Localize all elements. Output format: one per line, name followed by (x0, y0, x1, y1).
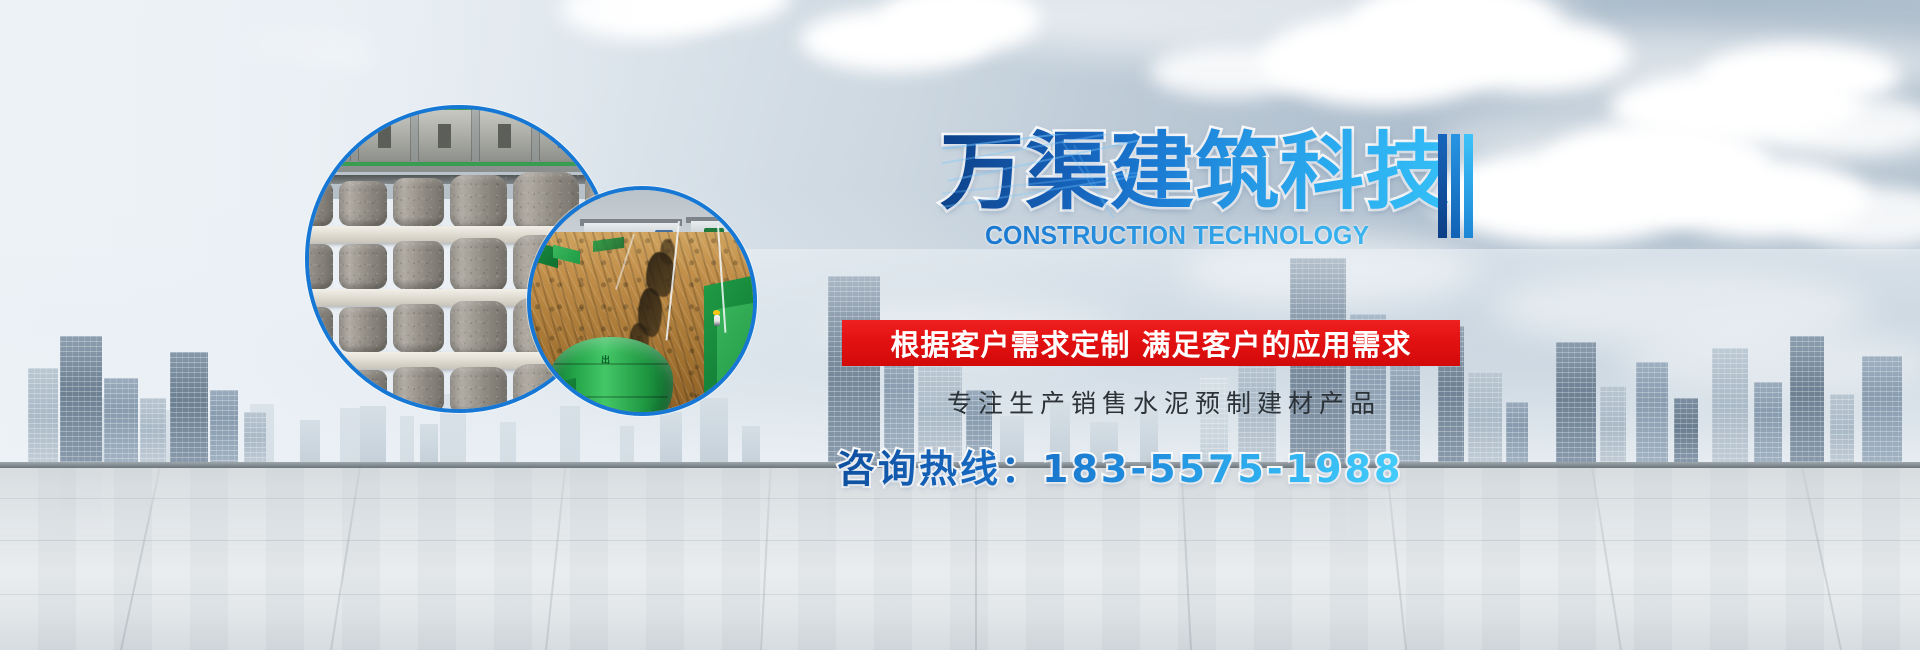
red-slogan-text: 根据客户需求定制 满足客户的应用需求 (890, 322, 1411, 364)
tank-marking-label: 出 (601, 353, 610, 366)
company-title: 万渠建筑科技 (940, 128, 1450, 216)
english-subtitle: CONSTRUCTION TECHNOLOGY (985, 220, 1523, 251)
red-slogan-band: 根据客户需求定制 满足客户的应用需求 (842, 320, 1460, 366)
hotline-text: 咨询热线：183-5575-1988 (837, 438, 1403, 493)
promotional-banner: 出 万渠建筑科技 万渠建筑科技 CONSTRUCTION TECHNOLOGY (0, 0, 1920, 650)
banner-text-block: 万渠建筑科技 万渠建筑科技 CONSTRUCTION TECHNOLOGY 根据… (940, 128, 1500, 251)
company-title-row: 万渠建筑科技 万渠建筑科技 (940, 128, 1500, 220)
product-tagline: 专注生产销售水泥预制建材产品 (874, 384, 1454, 420)
reflective-floor (0, 468, 1920, 650)
photo-excavation-green-tank: 出 (531, 190, 753, 412)
product-photo-circle-excavation-site: 出 (527, 186, 757, 416)
